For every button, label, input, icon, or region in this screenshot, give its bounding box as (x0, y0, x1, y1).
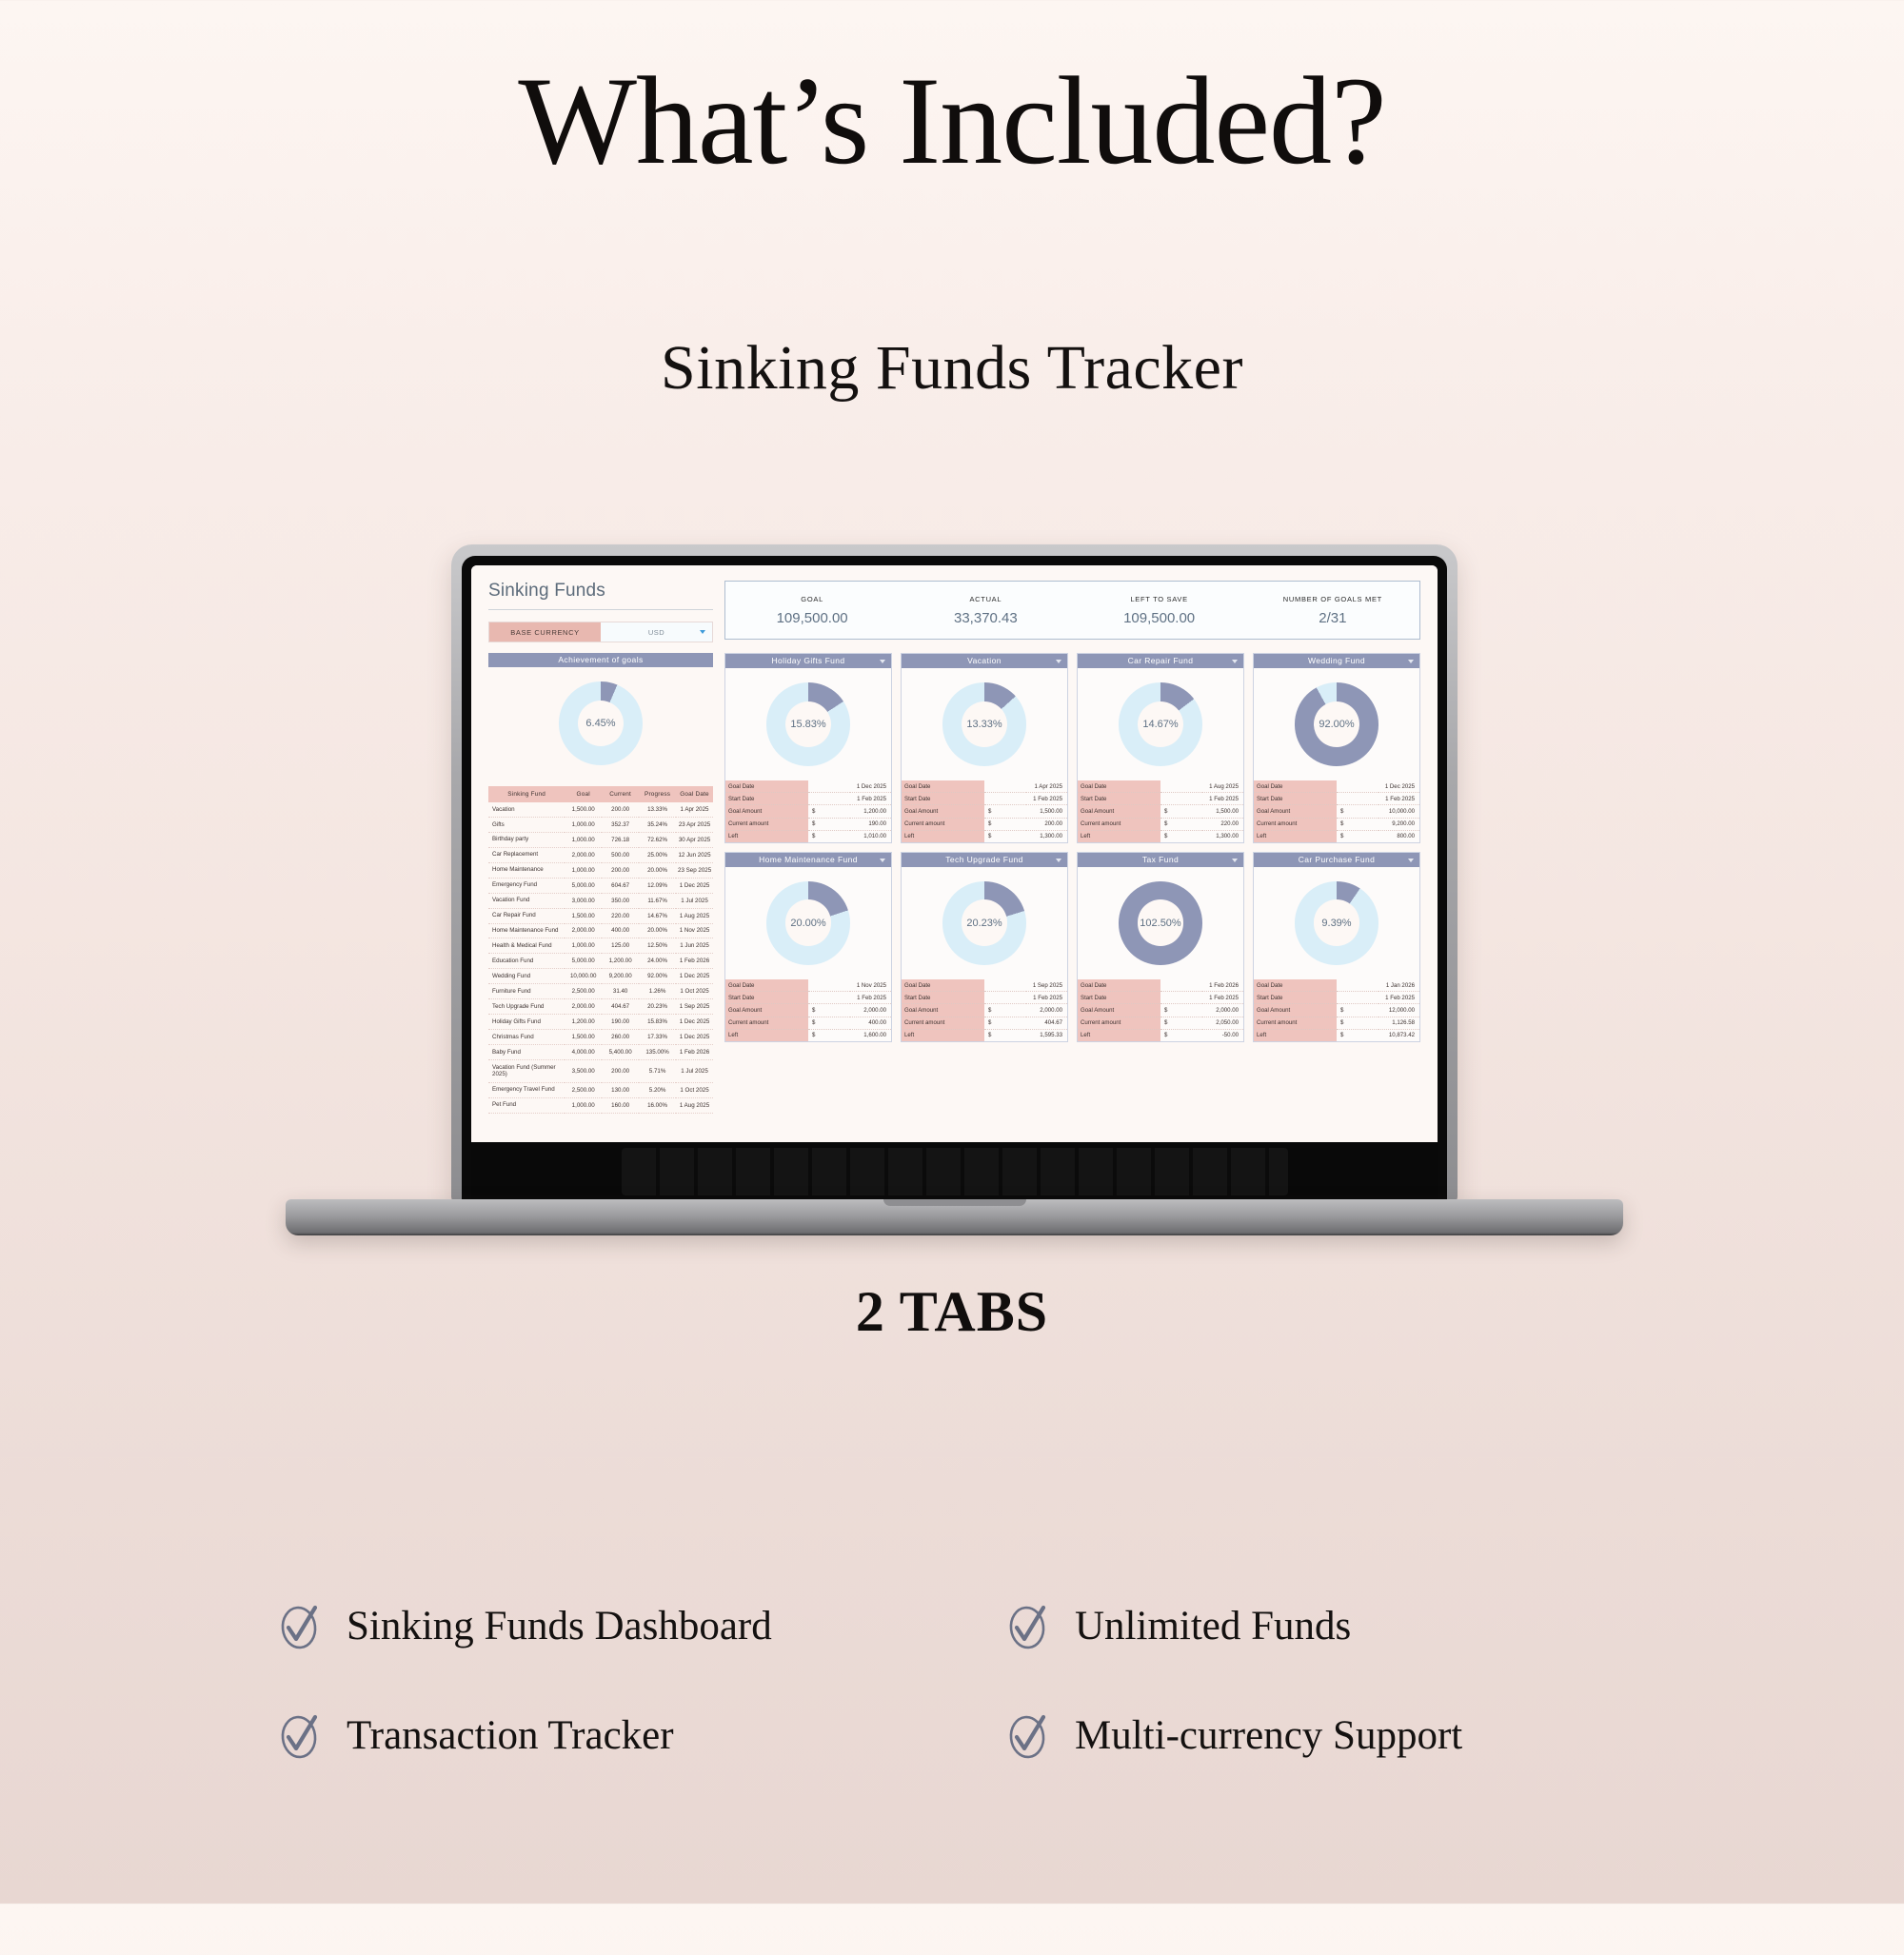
fund-card-title: Wedding Fund (1254, 654, 1419, 668)
chevron-down-icon[interactable] (700, 630, 705, 634)
fund-value-cell: 404.67 (602, 999, 639, 1015)
fund-detail-label: Goal Date (1078, 979, 1160, 992)
fund-value-cell: 5.71% (639, 1059, 676, 1082)
laptop-bezel: Sinking Funds BASE CURRENCY USD GOAL109,… (462, 556, 1447, 1204)
fund-value-cell: 135.00% (639, 1045, 676, 1060)
fund-detail-value: 1 Jan 2026 (1337, 979, 1419, 992)
fund-value-cell: 1,200.00 (565, 1015, 602, 1030)
feature-row: Transaction TrackerMulti-currency Suppor… (276, 1712, 1628, 1759)
fund-value-cell: 5,000.00 (565, 878, 602, 893)
fund-detail-value: 404.67 (1026, 1017, 1068, 1029)
fund-detail-value: 1 Dec 2025 (808, 780, 891, 793)
currency-symbol: $ (1160, 1004, 1202, 1017)
table-row[interactable]: Emergency Travel Fund2,500.00130.005.20%… (488, 1082, 713, 1097)
fund-detail-value: 1 Sep 2025 (984, 979, 1067, 992)
fund-detail-value: 1,500.00 (1026, 805, 1068, 818)
achievement-panel: Achievement of goals 6.45% Sinking FundG… (488, 653, 713, 1114)
fund-donut-chart: 9.39% (1254, 867, 1419, 979)
fund-value-cell: 92.00% (639, 969, 676, 984)
fund-detail-label: Goal Date (1254, 979, 1337, 992)
fund-name-cell: Birthday party (488, 832, 565, 847)
fund-detail-label: Current amount (1254, 1017, 1337, 1029)
fund-detail-table: Goal Date1 Sep 2025Start Date1 Feb 2025G… (902, 979, 1067, 1041)
fund-detail-row: Goal Date1 Jan 2026 (1254, 979, 1419, 992)
fund-detail-row: Goal Amount$2,000.00 (725, 1004, 891, 1017)
fund-detail-label: Goal Date (1078, 780, 1160, 793)
fund-value-cell: 1,500.00 (565, 908, 602, 923)
fund-detail-row: Goal Amount$2,000.00 (1078, 1004, 1243, 1017)
fund-value-cell: 1.26% (639, 984, 676, 999)
fund-detail-row: Current amount$2,050.00 (1078, 1017, 1243, 1029)
fund-value-cell: 9,200.00 (602, 969, 639, 984)
feature-label: Unlimited Funds (1075, 1603, 1351, 1649)
check-circle-icon (276, 1604, 322, 1649)
fund-detail-value: 1,500.00 (1202, 805, 1244, 818)
currency-symbol: $ (984, 818, 1026, 830)
fund-value-cell: 17.33% (639, 1030, 676, 1045)
fund-value-cell: 10,000.00 (565, 969, 602, 984)
fund-value-cell: 3,500.00 (565, 1059, 602, 1082)
table-column-header: Sinking Fund (488, 786, 565, 802)
fund-value-cell: 1,000.00 (565, 817, 602, 832)
fund-name-cell: Emergency Travel Fund (488, 1082, 565, 1097)
fund-detail-table: Goal Date1 Nov 2025Start Date1 Feb 2025G… (725, 979, 891, 1041)
feature-label: Transaction Tracker (347, 1712, 674, 1759)
fund-name-cell: Health & Medical Fund (488, 938, 565, 954)
fund-detail-label: Left (1254, 1029, 1337, 1041)
fund-detail-row: Start Date1 Feb 2025 (725, 793, 891, 805)
fund-value-cell: 12.09% (639, 878, 676, 893)
kpi-label: LEFT TO SAVE (1130, 595, 1187, 603)
fund-card[interactable]: Holiday Gifts Fund15.83%Goal Date1 Dec 2… (724, 653, 892, 843)
currency-symbol: $ (1337, 1017, 1378, 1029)
fund-name-cell: Car Replacement (488, 847, 565, 862)
fund-detail-value: 2,000.00 (850, 1004, 892, 1017)
laptop-lid: Sinking Funds BASE CURRENCY USD GOAL109,… (451, 544, 1458, 1204)
table-row[interactable]: Birthday party1,000.00726.1872.62%30 Apr… (488, 832, 713, 847)
fund-detail-value: 1 Apr 2025 (984, 780, 1067, 793)
chevron-down-icon[interactable] (1408, 660, 1414, 663)
currency-symbol: $ (808, 818, 850, 830)
fund-detail-row: Left$1,595.33 (902, 1029, 1067, 1041)
table-row[interactable]: Home Maintenance Fund2,000.00400.0020.00… (488, 923, 713, 938)
fund-detail-label: Start Date (902, 992, 984, 1004)
base-currency-text: USD (648, 628, 664, 637)
fund-detail-row: Goal Amount$10,000.00 (1254, 805, 1419, 818)
fund-detail-label: Start Date (725, 992, 808, 1004)
fund-card[interactable]: Car Repair Fund14.67%Goal Date1 Aug 2025… (1077, 653, 1244, 843)
fund-detail-value: 2,050.00 (1202, 1017, 1244, 1029)
fund-value-cell: 5,400.00 (602, 1045, 639, 1060)
fund-detail-value: 1 Nov 2025 (808, 979, 891, 992)
fund-detail-value: 1,010.00 (850, 830, 892, 842)
fund-detail-value: 12,000.00 (1378, 1004, 1420, 1017)
fund-card-title: Vacation (902, 654, 1067, 668)
currency-symbol: $ (1337, 818, 1378, 830)
fund-value-cell: 125.00 (602, 938, 639, 954)
fund-detail-row: Goal Date1 Aug 2025 (1078, 780, 1243, 793)
fund-detail-value: 1,126.58 (1378, 1017, 1420, 1029)
feature-item: Multi-currency Support (952, 1712, 1628, 1759)
tabs-count: 2 TABS (0, 1279, 1904, 1345)
donut-percent-label: 13.33% (902, 719, 1067, 730)
feature-label: Sinking Funds Dashboard (347, 1603, 772, 1649)
fund-detail-table: Goal Date1 Apr 2025Start Date1 Feb 2025G… (902, 780, 1067, 842)
currency-symbol: $ (1337, 805, 1378, 818)
fund-detail-row: Goal Date1 Feb 2026 (1078, 979, 1243, 992)
fund-detail-row: Start Date1 Feb 2025 (725, 992, 891, 1004)
table-row[interactable]: Furniture Fund2,500.0031.401.26%1 Oct 20… (488, 984, 713, 999)
features-list: Sinking Funds DashboardUnlimited FundsTr… (276, 1603, 1628, 1759)
fund-detail-row: Goal Amount$1,500.00 (902, 805, 1067, 818)
fund-value-cell: 12 Jun 2025 (676, 847, 713, 862)
fund-name-cell: Car Repair Fund (488, 908, 565, 923)
fund-detail-value: 1 Feb 2025 (1337, 992, 1419, 1004)
donut-percent-label: 102.50% (1078, 918, 1243, 929)
feature-item: Sinking Funds Dashboard (276, 1603, 952, 1649)
fund-value-cell: 13.33% (639, 802, 676, 817)
fund-name-cell: Vacation Fund (Summer 2025) (488, 1059, 565, 1082)
fund-detail-value: 2,000.00 (1026, 1004, 1068, 1017)
fund-detail-row: Goal Date1 Apr 2025 (902, 780, 1067, 793)
fund-value-cell: 4,000.00 (565, 1045, 602, 1060)
fund-value-cell: 1 Sep 2025 (676, 999, 713, 1015)
check-circle-icon (1004, 1713, 1050, 1759)
currency-symbol: $ (1160, 1029, 1202, 1041)
table-row[interactable]: Car Repair Fund1,500.00220.0014.67%1 Aug… (488, 908, 713, 923)
fund-detail-label: Goal Date (1254, 780, 1337, 793)
fund-detail-value: 2,000.00 (1202, 1004, 1244, 1017)
fund-detail-row: Goal Amount$1,200.00 (725, 805, 891, 818)
fund-detail-row: Left$1,010.00 (725, 830, 891, 842)
feature-label: Multi-currency Support (1075, 1712, 1462, 1759)
fund-name-cell: Emergency Fund (488, 878, 565, 893)
feature-item: Unlimited Funds (952, 1603, 1628, 1649)
fund-detail-table: Goal Date1 Dec 2025Start Date1 Feb 2025G… (725, 780, 891, 842)
currency-symbol: $ (984, 805, 1026, 818)
fund-detail-label: Current amount (1078, 1017, 1160, 1029)
keyboard-keys (622, 1148, 1288, 1195)
fund-detail-row: Current amount$220.00 (1078, 818, 1243, 830)
donut-percent-label: 15.83% (725, 719, 891, 730)
fund-detail-value: 800.00 (1378, 830, 1420, 842)
fund-name-cell: Tech Upgrade Fund (488, 999, 565, 1015)
base-currency-label: BASE CURRENCY (489, 622, 601, 642)
check-circle-icon (1004, 1604, 1050, 1649)
fund-value-cell: 1 Feb 2026 (676, 954, 713, 969)
fund-detail-row: Goal Date1 Sep 2025 (902, 979, 1067, 992)
kpi-value: 2/31 (1319, 610, 1346, 626)
currency-symbol: $ (1160, 1017, 1202, 1029)
fund-detail-row: Left$10,873.42 (1254, 1029, 1419, 1041)
fund-value-cell: 1 Feb 2026 (676, 1045, 713, 1060)
donut-percent-label: 14.67% (1078, 719, 1243, 730)
chevron-down-icon[interactable] (1408, 859, 1414, 862)
fund-value-cell: 31.40 (602, 984, 639, 999)
fund-card[interactable]: Wedding Fund92.00%Goal Date1 Dec 2025Sta… (1253, 653, 1420, 843)
fund-detail-value: 1 Feb 2025 (1160, 992, 1243, 1004)
feature-row: Sinking Funds DashboardUnlimited Funds (276, 1603, 1628, 1649)
fund-detail-label: Start Date (902, 793, 984, 805)
fund-detail-value: 1 Feb 2025 (984, 793, 1067, 805)
fund-value-cell: 5.20% (639, 1082, 676, 1097)
fund-detail-row: Goal Date1 Dec 2025 (725, 780, 891, 793)
table-row[interactable]: Vacation Fund (Summer 2025)3,500.00200.0… (488, 1059, 713, 1082)
fund-value-cell: 2,000.00 (565, 923, 602, 938)
kpi-2: LEFT TO SAVE109,500.00 (1073, 582, 1246, 639)
fund-value-cell: 500.00 (602, 847, 639, 862)
fund-name-cell: Furniture Fund (488, 984, 565, 999)
table-row[interactable]: Car Replacement2,000.00500.0025.00%12 Ju… (488, 847, 713, 862)
fund-detail-value: 400.00 (850, 1017, 892, 1029)
fund-value-cell: 400.00 (602, 923, 639, 938)
fund-card-title: Tech Upgrade Fund (902, 853, 1067, 867)
currency-symbol: $ (1337, 830, 1378, 842)
fund-value-cell: 1 Dec 2025 (676, 878, 713, 893)
fund-value-cell: 160.00 (602, 1097, 639, 1113)
fund-donut-chart: 102.50% (1078, 867, 1243, 979)
fund-value-cell: 1,200.00 (602, 954, 639, 969)
fund-detail-label: Goal Amount (1254, 1004, 1337, 1017)
fund-detail-label: Current amount (1254, 818, 1337, 830)
fund-value-cell: 20.23% (639, 999, 676, 1015)
fund-detail-row: Goal Date1 Dec 2025 (1254, 780, 1419, 793)
chevron-down-icon[interactable] (1056, 660, 1061, 663)
fund-detail-row: Left$800.00 (1254, 830, 1419, 842)
fund-detail-value: 1,300.00 (1026, 830, 1068, 842)
currency-symbol: $ (1160, 830, 1202, 842)
fund-name-cell: Pet Fund (488, 1097, 565, 1113)
fund-detail-row: Left$1,300.00 (1078, 830, 1243, 842)
fund-detail-row: Start Date1 Feb 2025 (902, 793, 1067, 805)
laptop-mockup: Sinking Funds BASE CURRENCY USD GOAL109,… (0, 544, 1904, 1249)
fund-detail-value: 1 Feb 2025 (1337, 793, 1419, 805)
fund-donut-chart: 92.00% (1254, 668, 1419, 780)
fund-detail-row: Start Date1 Feb 2025 (902, 992, 1067, 1004)
fund-detail-value: 200.00 (1026, 818, 1068, 830)
fund-card[interactable]: Tech Upgrade Fund20.23%Goal Date1 Sep 20… (901, 852, 1068, 1042)
fund-detail-label: Left (902, 1029, 984, 1041)
table-column-header: Goal Date (676, 786, 713, 802)
fund-detail-value: -50.00 (1202, 1029, 1244, 1041)
fund-value-cell: 1,500.00 (565, 1030, 602, 1045)
fund-value-cell: 1 Apr 2025 (676, 802, 713, 817)
donut-percent-label: 92.00% (1254, 719, 1419, 730)
page-title: What’s Included? (0, 51, 1904, 189)
fund-name-cell: Gifts (488, 817, 565, 832)
fund-detail-label: Start Date (1254, 992, 1337, 1004)
fund-detail-row: Goal Amount$1,500.00 (1078, 805, 1243, 818)
laptop-base (286, 1199, 1623, 1235)
fund-value-cell: 1 Oct 2025 (676, 984, 713, 999)
table-row[interactable]: Pet Fund1,000.00160.0016.00%1 Aug 2025 (488, 1097, 713, 1113)
fund-detail-label: Current amount (1078, 818, 1160, 830)
fund-detail-value: 1 Aug 2025 (1160, 780, 1243, 793)
fund-detail-value: 1 Feb 2025 (808, 793, 891, 805)
chevron-down-icon[interactable] (1232, 859, 1238, 862)
table-row[interactable]: Emergency Fund5,000.00604.6712.09%1 Dec … (488, 878, 713, 893)
fund-detail-row: Start Date1 Feb 2025 (1078, 793, 1243, 805)
fund-value-cell: 24.00% (639, 954, 676, 969)
fund-value-cell: 30 Apr 2025 (676, 832, 713, 847)
table-row[interactable]: Christmas Fund1,500.00260.0017.33%1 Dec … (488, 1030, 713, 1045)
fund-donut-chart: 20.00% (725, 867, 891, 979)
sheet-header-panel: Sinking Funds BASE CURRENCY USD (488, 581, 713, 642)
fund-detail-label: Goal Amount (725, 805, 808, 818)
fund-name-cell: Wedding Fund (488, 969, 565, 984)
sinking-funds-table: Sinking FundGoalCurrentProgressGoal Date… (488, 786, 713, 1114)
chevron-down-icon[interactable] (880, 660, 885, 663)
fund-value-cell: 1 Dec 2025 (676, 1015, 713, 1030)
fund-name-cell: Holiday Gifts Fund (488, 1015, 565, 1030)
fund-value-cell: 350.00 (602, 893, 639, 908)
table-row[interactable]: Health & Medical Fund1,000.00125.0012.50… (488, 938, 713, 954)
fund-value-cell: 130.00 (602, 1082, 639, 1097)
fund-value-cell: 15.83% (639, 1015, 676, 1030)
table-row[interactable]: Wedding Fund10,000.009,200.0092.00%1 Dec… (488, 969, 713, 984)
fund-name-cell: Home Maintenance (488, 862, 565, 878)
fund-detail-row: Goal Amount$2,000.00 (902, 1004, 1067, 1017)
fund-value-cell: 1 Aug 2025 (676, 908, 713, 923)
fund-value-cell: 200.00 (602, 862, 639, 878)
fund-value-cell: 1,000.00 (565, 862, 602, 878)
base-currency-selector[interactable]: BASE CURRENCY USD (488, 622, 713, 642)
table-row[interactable]: Vacation Fund3,000.00350.0011.67%1 Jul 2… (488, 893, 713, 908)
fund-detail-label: Left (1254, 830, 1337, 842)
fund-detail-label: Goal Date (725, 979, 808, 992)
fund-name-cell: Christmas Fund (488, 1030, 565, 1045)
fund-detail-row: Current amount$404.67 (902, 1017, 1067, 1029)
fund-card-title: Holiday Gifts Fund (725, 654, 891, 668)
donut-percent-label: 6.45% (488, 718, 713, 729)
table-row[interactable]: Education Fund5,000.001,200.0024.00%1 Fe… (488, 954, 713, 969)
table-row[interactable]: Gifts1,000.00352.3735.24%23 Apr 2025 (488, 817, 713, 832)
fund-detail-row: Start Date1 Feb 2025 (1254, 793, 1419, 805)
donut-percent-label: 9.39% (1254, 918, 1419, 929)
fund-detail-value: 1,200.00 (850, 805, 892, 818)
fund-value-cell: 1 Jul 2025 (676, 893, 713, 908)
fund-value-cell: 20.00% (639, 923, 676, 938)
fund-value-cell: 12.50% (639, 938, 676, 954)
currency-symbol: $ (984, 1004, 1026, 1017)
product-subtitle: Sinking Funds Tracker (0, 332, 1904, 405)
table-row[interactable]: Holiday Gifts Fund1,200.00190.0015.83%1 … (488, 1015, 713, 1030)
kpi-value: 109,500.00 (777, 610, 848, 626)
fund-value-cell: 25.00% (639, 847, 676, 862)
fund-detail-table: Goal Date1 Jan 2026Start Date1 Feb 2025G… (1254, 979, 1419, 1041)
fund-detail-value: 10,873.42 (1378, 1029, 1420, 1041)
laptop-keyboard (471, 1142, 1438, 1199)
divider (488, 609, 713, 610)
currency-symbol: $ (984, 830, 1026, 842)
fund-card[interactable]: Car Purchase Fund9.39%Goal Date1 Jan 202… (1253, 852, 1420, 1042)
kpi-label: NUMBER OF GOALS MET (1283, 595, 1382, 603)
fund-detail-label: Left (902, 830, 984, 842)
fund-name-cell: Baby Fund (488, 1045, 565, 1060)
kpi-label: ACTUAL (969, 595, 1002, 603)
fund-value-cell: 190.00 (602, 1015, 639, 1030)
fund-value-cell: 200.00 (602, 802, 639, 817)
fund-value-cell: 604.67 (602, 878, 639, 893)
fund-card[interactable]: Home Maintenance Fund20.00%Goal Date1 No… (724, 852, 892, 1042)
fund-detail-value: 9,200.00 (1378, 818, 1420, 830)
chevron-down-icon[interactable] (880, 859, 885, 862)
fund-card-title: Home Maintenance Fund (725, 853, 891, 867)
fund-value-cell: 2,000.00 (565, 847, 602, 862)
fund-value-cell: 1 Aug 2025 (676, 1097, 713, 1113)
fund-value-cell: 1,500.00 (565, 802, 602, 817)
fund-value-cell: 220.00 (602, 908, 639, 923)
donut-percent-label: 20.23% (902, 918, 1067, 929)
fund-value-cell: 5,000.00 (565, 954, 602, 969)
fund-detail-value: 220.00 (1202, 818, 1244, 830)
fund-detail-label: Goal Amount (725, 1004, 808, 1017)
fund-detail-label: Goal Date (725, 780, 808, 793)
fund-detail-label: Current amount (902, 1017, 984, 1029)
sheet-title: Sinking Funds (488, 581, 713, 602)
table-row[interactable]: Tech Upgrade Fund2,000.00404.6720.23%1 S… (488, 999, 713, 1015)
fund-card[interactable]: Tax Fund102.50%Goal Date1 Feb 2026Start … (1077, 852, 1244, 1042)
table-row[interactable]: Baby Fund4,000.005,400.00135.00%1 Feb 20… (488, 1045, 713, 1060)
fund-value-cell: 726.18 (602, 832, 639, 847)
fund-value-cell: 200.00 (602, 1059, 639, 1082)
fund-detail-value: 1,300.00 (1202, 830, 1244, 842)
fund-detail-label: Left (725, 830, 808, 842)
fund-value-cell: 1 Jul 2025 (676, 1059, 713, 1082)
fund-name-cell: Home Maintenance Fund (488, 923, 565, 938)
fund-detail-value: 1 Feb 2026 (1160, 979, 1243, 992)
fund-detail-label: Goal Date (902, 780, 984, 793)
fund-value-cell: 2,500.00 (565, 1082, 602, 1097)
spreadsheet-dashboard: Sinking Funds BASE CURRENCY USD GOAL109,… (471, 565, 1438, 1144)
fund-value-cell: 1,000.00 (565, 832, 602, 847)
fund-detail-label: Left (725, 1029, 808, 1041)
fund-detail-label: Current amount (902, 818, 984, 830)
fund-detail-table: Goal Date1 Dec 2025Start Date1 Feb 2025G… (1254, 780, 1419, 842)
fund-value-cell: 11.67% (639, 893, 676, 908)
fund-value-cell: 16.00% (639, 1097, 676, 1113)
fund-value-cell: 352.37 (602, 817, 639, 832)
chevron-down-icon[interactable] (1056, 859, 1061, 862)
fund-value-cell: 1 Oct 2025 (676, 1082, 713, 1097)
kpi-summary-bar: GOAL109,500.00ACTUAL33,370.43LEFT TO SAV… (724, 581, 1420, 640)
fund-donut-chart: 13.33% (902, 668, 1067, 780)
chevron-down-icon[interactable] (1232, 660, 1238, 663)
fund-value-cell: 1 Nov 2025 (676, 923, 713, 938)
base-currency-value[interactable]: USD (601, 622, 712, 642)
fund-value-cell: 23 Apr 2025 (676, 817, 713, 832)
fund-value-cell: 1 Dec 2025 (676, 969, 713, 984)
fund-card[interactable]: Vacation13.33%Goal Date1 Apr 2025Start D… (901, 653, 1068, 843)
fund-detail-label: Start Date (1254, 793, 1337, 805)
fund-donut-chart: 20.23% (902, 867, 1067, 979)
fund-name-cell: Vacation Fund (488, 893, 565, 908)
fund-card-title: Tax Fund (1078, 853, 1243, 867)
fund-detail-row: Left$1,600.00 (725, 1029, 891, 1041)
fund-card-title: Car Repair Fund (1078, 654, 1243, 668)
table-row[interactable]: Home Maintenance1,000.00200.0020.00%23 S… (488, 862, 713, 878)
fund-detail-label: Left (1078, 1029, 1160, 1041)
fund-value-cell: 20.00% (639, 862, 676, 878)
fund-detail-label: Goal Date (902, 979, 984, 992)
fund-detail-row: Current amount$9,200.00 (1254, 818, 1419, 830)
fund-value-cell: 1 Dec 2025 (676, 1030, 713, 1045)
kpi-label: GOAL (801, 595, 823, 603)
fund-value-cell: 35.24% (639, 817, 676, 832)
fund-value-cell: 2,000.00 (565, 999, 602, 1015)
table-row[interactable]: Vacation1,500.00200.0013.33%1 Apr 2025 (488, 802, 713, 817)
fund-name-cell: Vacation (488, 802, 565, 817)
